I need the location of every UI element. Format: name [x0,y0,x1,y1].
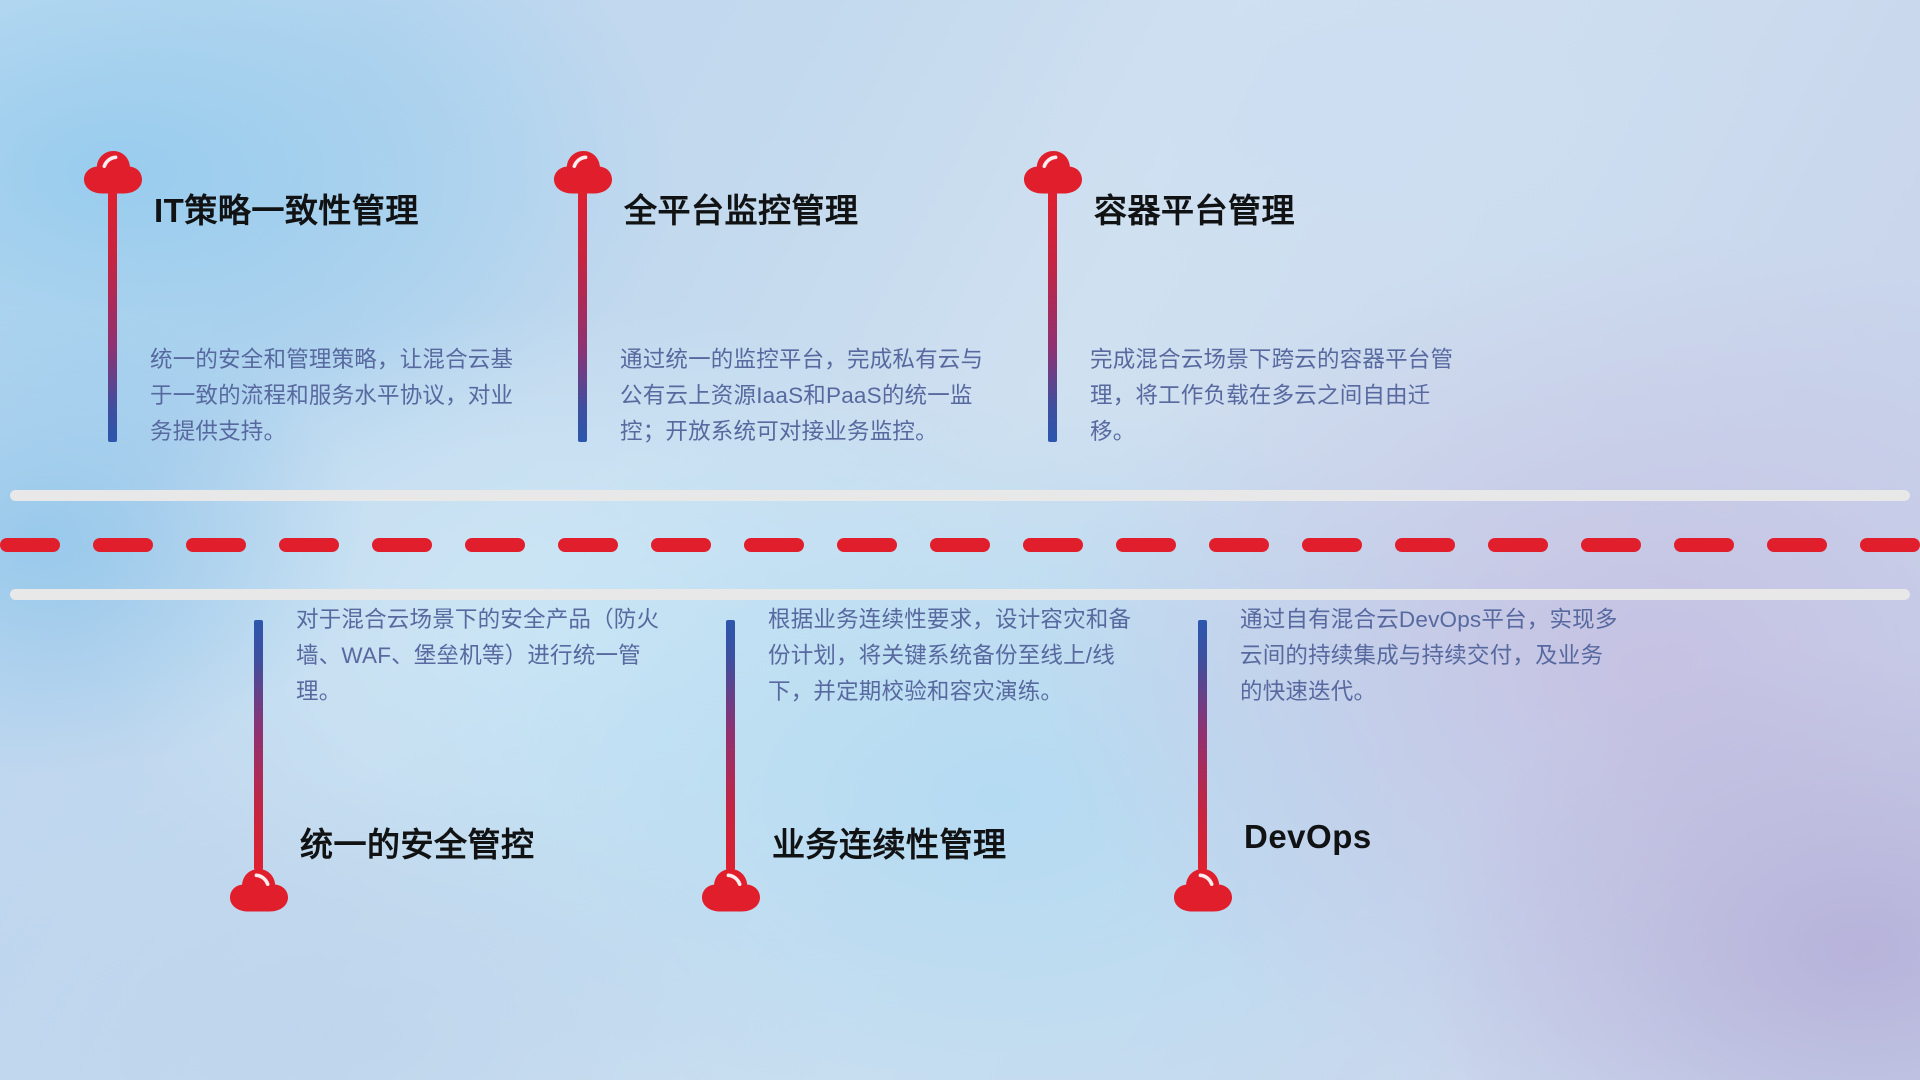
road-dash [0,538,60,552]
cloud-icon [228,868,290,912]
road-dash [279,538,339,552]
road-dash [1395,538,1455,552]
road-dash [1860,538,1920,552]
road-dash [930,538,990,552]
road-edge-bottom [10,589,1910,600]
road-dash [93,538,153,552]
road-dash [1116,538,1176,552]
road-edge-top [10,490,1910,501]
road-dash [651,538,711,552]
road-dashed-centerline [0,538,1920,552]
feature-body: 通过统一的监控平台，完成私有云与公有云上资源IaaS和PaaS的统一监控；开放系… [620,342,1000,450]
road-dash [1581,538,1641,552]
cloud-stem-group [552,150,612,194]
feature-heading: IT策略一致性管理 [154,184,419,232]
road-dash [837,538,897,552]
road-dash [186,538,246,552]
cloud-icon [1172,868,1234,912]
connector-stem [726,620,735,870]
road-dash [558,538,618,552]
road-dash [1488,538,1548,552]
feature-body: 根据业务连续性要求，设计容灾和备份计划，将关键系统备份至线上/线下，并定期校验和… [768,602,1148,710]
road-dash [465,538,525,552]
feature-heading: DevOps [1244,818,1372,856]
feature-body: 统一的安全和管理策略，让混合云基于一致的流程和服务水平协议，对业务提供支持。 [150,342,530,450]
feature-body: 对于混合云场景下的安全产品（防火墙、WAF、堡垒机等）进行统一管理。 [296,602,676,710]
feature-heading: 统一的安全管控 [300,818,535,866]
road-dash [1674,538,1734,552]
road-divider [0,490,1920,600]
road-dash [1767,538,1827,552]
cloud-icon [1022,150,1084,194]
connector-stem [1048,192,1057,442]
road-dash [1023,538,1083,552]
connector-stem [578,192,587,442]
road-dash [744,538,804,552]
road-dash [1209,538,1269,552]
road-dash [372,538,432,552]
connector-stem [254,620,263,870]
feature-body: 通过自有混合云DevOps平台，实现多云间的持续集成与持续交付，及业务的快速迭代… [1240,602,1620,710]
cloud-icon [552,150,614,194]
cloud-icon [82,150,144,194]
cloud-stem-group [1022,150,1082,194]
feature-heading: 业务连续性管理 [772,818,1007,866]
connector-stem [1198,620,1207,870]
connector-stem [108,192,117,442]
cloud-stem-group [82,150,142,194]
cloud-icon [700,868,762,912]
feature-heading: 容器平台管理 [1094,184,1295,232]
feature-body: 完成混合云场景下跨云的容器平台管理，将工作负载在多云之间自由迁移。 [1090,342,1470,450]
feature-heading: 全平台监控管理 [624,184,859,232]
infographic-canvas: IT策略一致性管理 统一的安全和管理策略，让混合云基于一致的流程和服务水平协议，… [0,0,1920,1080]
road-dash [1302,538,1362,552]
